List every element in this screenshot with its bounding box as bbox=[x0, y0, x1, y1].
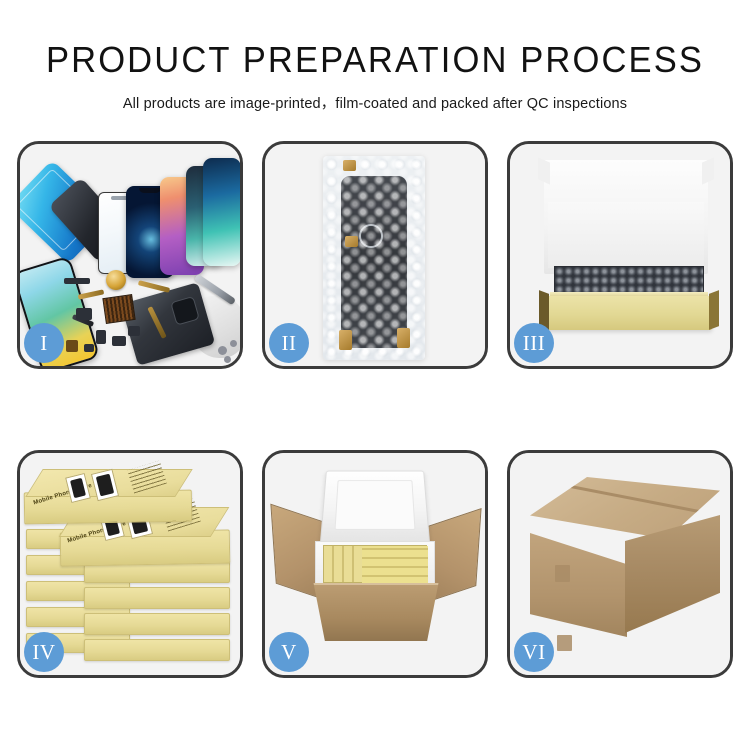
copper-coil-icon bbox=[106, 270, 126, 290]
small-component-icon bbox=[112, 336, 126, 346]
carton-tape-icon bbox=[555, 565, 570, 582]
small-component-icon bbox=[76, 308, 92, 320]
tape-icon bbox=[345, 236, 358, 247]
yellow-box-front-icon bbox=[546, 296, 712, 330]
process-step-4[interactable]: Mobile Phone Spare Parts Mobile Phone Sp… bbox=[17, 450, 243, 678]
small-component-icon bbox=[64, 278, 90, 284]
flex-cable-icon bbox=[138, 280, 170, 293]
process-step-3[interactable]: III bbox=[507, 141, 733, 369]
step-badge-6: VI bbox=[514, 632, 554, 672]
carton-tape-icon bbox=[557, 635, 572, 651]
step-badge-1: I bbox=[24, 323, 64, 363]
screw-icon bbox=[224, 356, 231, 363]
tape-icon bbox=[339, 330, 352, 350]
foam-lid-icon bbox=[320, 471, 431, 546]
page-title: PRODUCT PREPARATION PROCESS bbox=[15, 42, 735, 78]
tape-icon bbox=[343, 160, 356, 171]
screw-icon bbox=[230, 340, 237, 347]
small-component-icon bbox=[96, 330, 106, 344]
process-step-5[interactable]: V bbox=[262, 450, 488, 678]
stacked-box bbox=[84, 613, 230, 635]
process-step-grid: I II III bbox=[17, 141, 733, 678]
stacked-box bbox=[84, 587, 230, 609]
chip-board-icon bbox=[102, 294, 135, 324]
small-component-icon bbox=[128, 326, 140, 336]
small-component-icon bbox=[84, 344, 94, 352]
carton-body-icon bbox=[305, 583, 447, 641]
phone-housing-icon bbox=[121, 282, 216, 366]
stacked-box bbox=[84, 639, 230, 661]
process-step-6[interactable]: VI bbox=[507, 450, 733, 678]
step-badge-3: III bbox=[514, 323, 554, 363]
tape-icon bbox=[397, 328, 410, 348]
process-step-1[interactable]: I bbox=[17, 141, 243, 369]
yellow-boxes-inside-icon bbox=[323, 545, 427, 583]
screw-icon bbox=[218, 346, 227, 355]
step-badge-2: II bbox=[269, 323, 309, 363]
process-step-2[interactable]: II bbox=[262, 141, 488, 369]
foam-backing-icon bbox=[548, 202, 704, 268]
flex-cable-icon bbox=[78, 289, 104, 299]
step-badge-4: IV bbox=[24, 632, 64, 672]
product-preparation-infographic: PRODUCT PREPARATION PROCESS All products… bbox=[0, 0, 750, 750]
page-subtitle: All products are image-printed，film-coat… bbox=[0, 92, 750, 113]
carton-left-face-icon bbox=[530, 533, 627, 637]
phone-teal-b-icon bbox=[203, 158, 241, 266]
small-component-icon bbox=[66, 340, 78, 352]
step-badge-5: V bbox=[269, 632, 309, 672]
header: PRODUCT PREPARATION PROCESS All products… bbox=[0, 0, 750, 113]
